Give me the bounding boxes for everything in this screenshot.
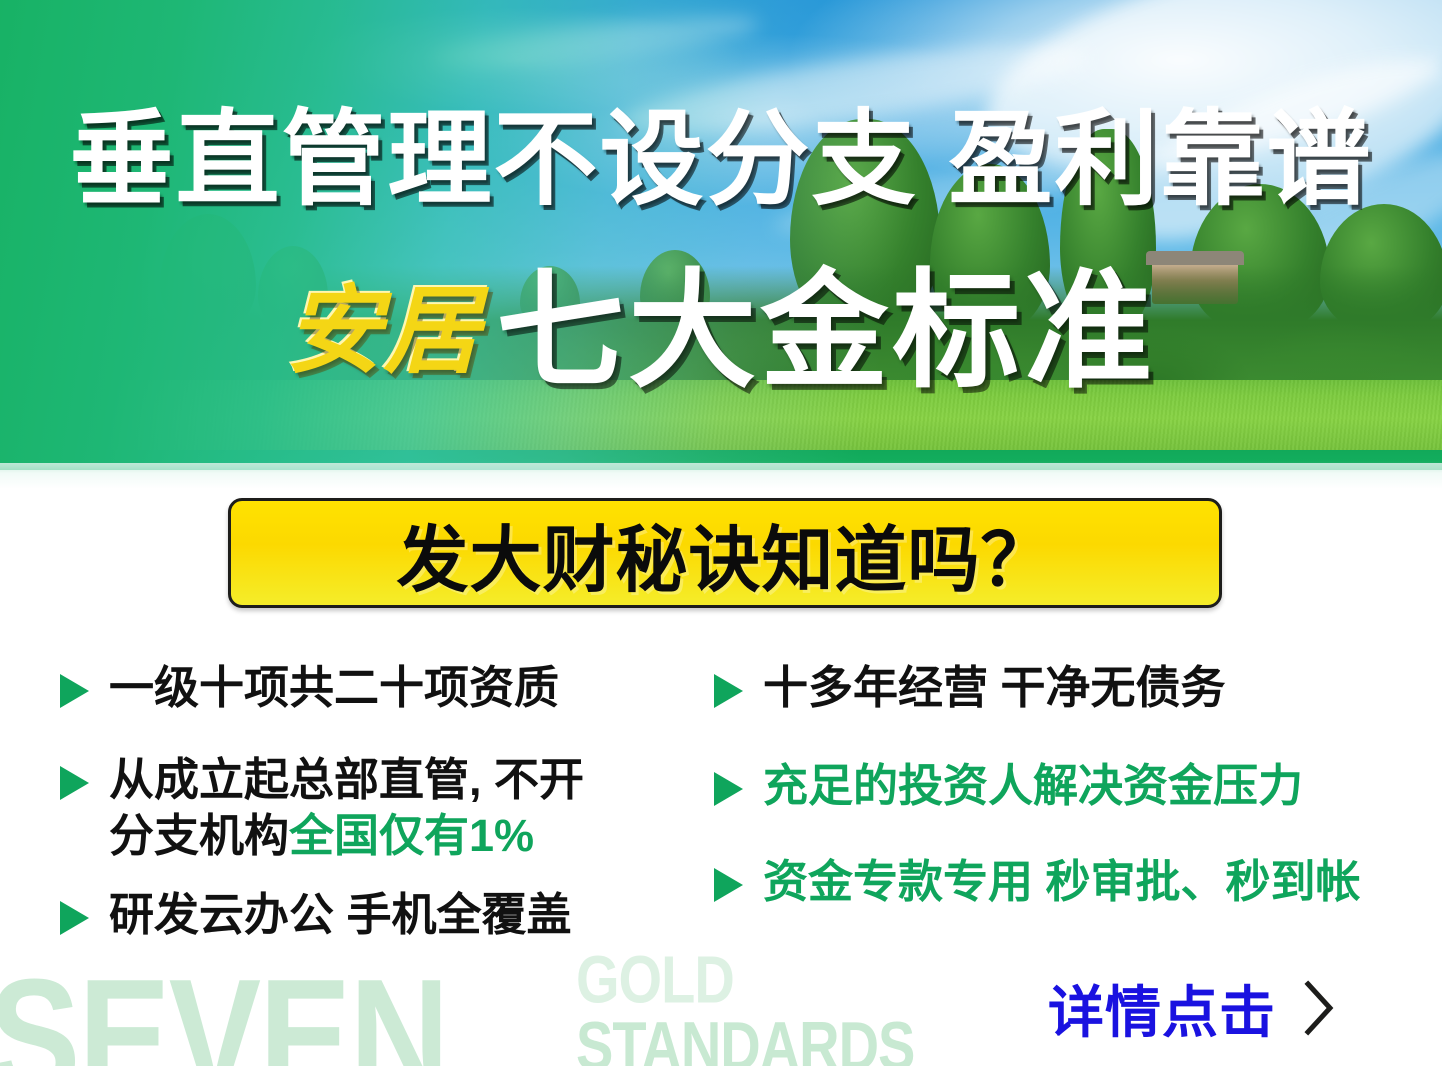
feature-text: 十多年经营 干净无债务 [763, 660, 1226, 716]
feature-text: 研发云办公 手机全覆盖 [109, 887, 572, 943]
cta-question-banner[interactable]: 发大财秘诀知道吗？ [228, 498, 1222, 608]
triangle-bullet-icon [60, 766, 89, 800]
triangle-bullet-icon [714, 772, 743, 806]
feature-text: 从成立起总部直管, 不开 分支机构全国仅有1% [109, 752, 584, 864]
feature-text-line2-prefix: 分支机构 [109, 810, 289, 861]
list-item: 研发云办公 手机全覆盖 [60, 887, 680, 943]
details-cta-label: 详情点击 [1048, 968, 1276, 1049]
feature-text-line1: 从成立起总部直管, 不开 [109, 754, 584, 805]
hero-headline-primary: 垂直管理不设分支 盈利靠谱 [0, 108, 1442, 212]
chevron-right-icon [1302, 979, 1336, 1042]
list-item: 充足的投资人解决资金压力 [714, 758, 1400, 814]
hero-headline-accent: 安居 [286, 278, 482, 385]
advertisement-poster: 垂直管理不设分支 盈利靠谱 安居 七大金标准 发大财秘诀知道吗？ SEVEN G… [0, 0, 1442, 1066]
triangle-bullet-icon [714, 868, 743, 902]
banner-underglow [0, 463, 1442, 489]
list-item: 从成立起总部直管, 不开 分支机构全国仅有1% [60, 752, 680, 864]
feature-text: 充足的投资人解决资金压力 [763, 758, 1303, 814]
list-item: 十多年经营 干净无债务 [714, 660, 1400, 716]
feature-text-highlight: 全国仅有1% [289, 810, 534, 861]
feature-column-right: 十多年经营 干净无债务 充足的投资人解决资金压力 资金专款专用 秒审批、秒到帐 [700, 660, 1400, 939]
details-cta-link[interactable]: 详情点击 [1048, 968, 1336, 1049]
watermark-standards: STANDARDS [576, 1017, 914, 1066]
feature-column-left: 一级十项共二十项资质 从成立起总部直管, 不开 分支机构全国仅有1% 研发云办公… [60, 660, 680, 973]
hero-headline-main: 七大金标准 [496, 260, 1156, 403]
cta-question-text: 发大财秘诀知道吗？ [396, 501, 1053, 606]
list-item: 资金专款专用 秒审批、秒到帐 [714, 854, 1400, 910]
triangle-bullet-icon [60, 674, 89, 708]
hero-banner: 垂直管理不设分支 盈利靠谱 安居 七大金标准 [0, 0, 1442, 470]
list-item: 一级十项共二十项资质 [60, 660, 680, 716]
feature-text: 一级十项共二十项资质 [109, 660, 559, 716]
triangle-bullet-icon [60, 901, 89, 935]
hero-headline-secondary: 安居 七大金标准 [0, 268, 1442, 396]
triangle-bullet-icon [714, 674, 743, 708]
feature-list-section: 一级十项共二十项资质 从成立起总部直管, 不开 分支机构全国仅有1% 研发云办公… [0, 660, 1442, 1000]
feature-text: 资金专款专用 秒审批、秒到帐 [763, 854, 1361, 910]
